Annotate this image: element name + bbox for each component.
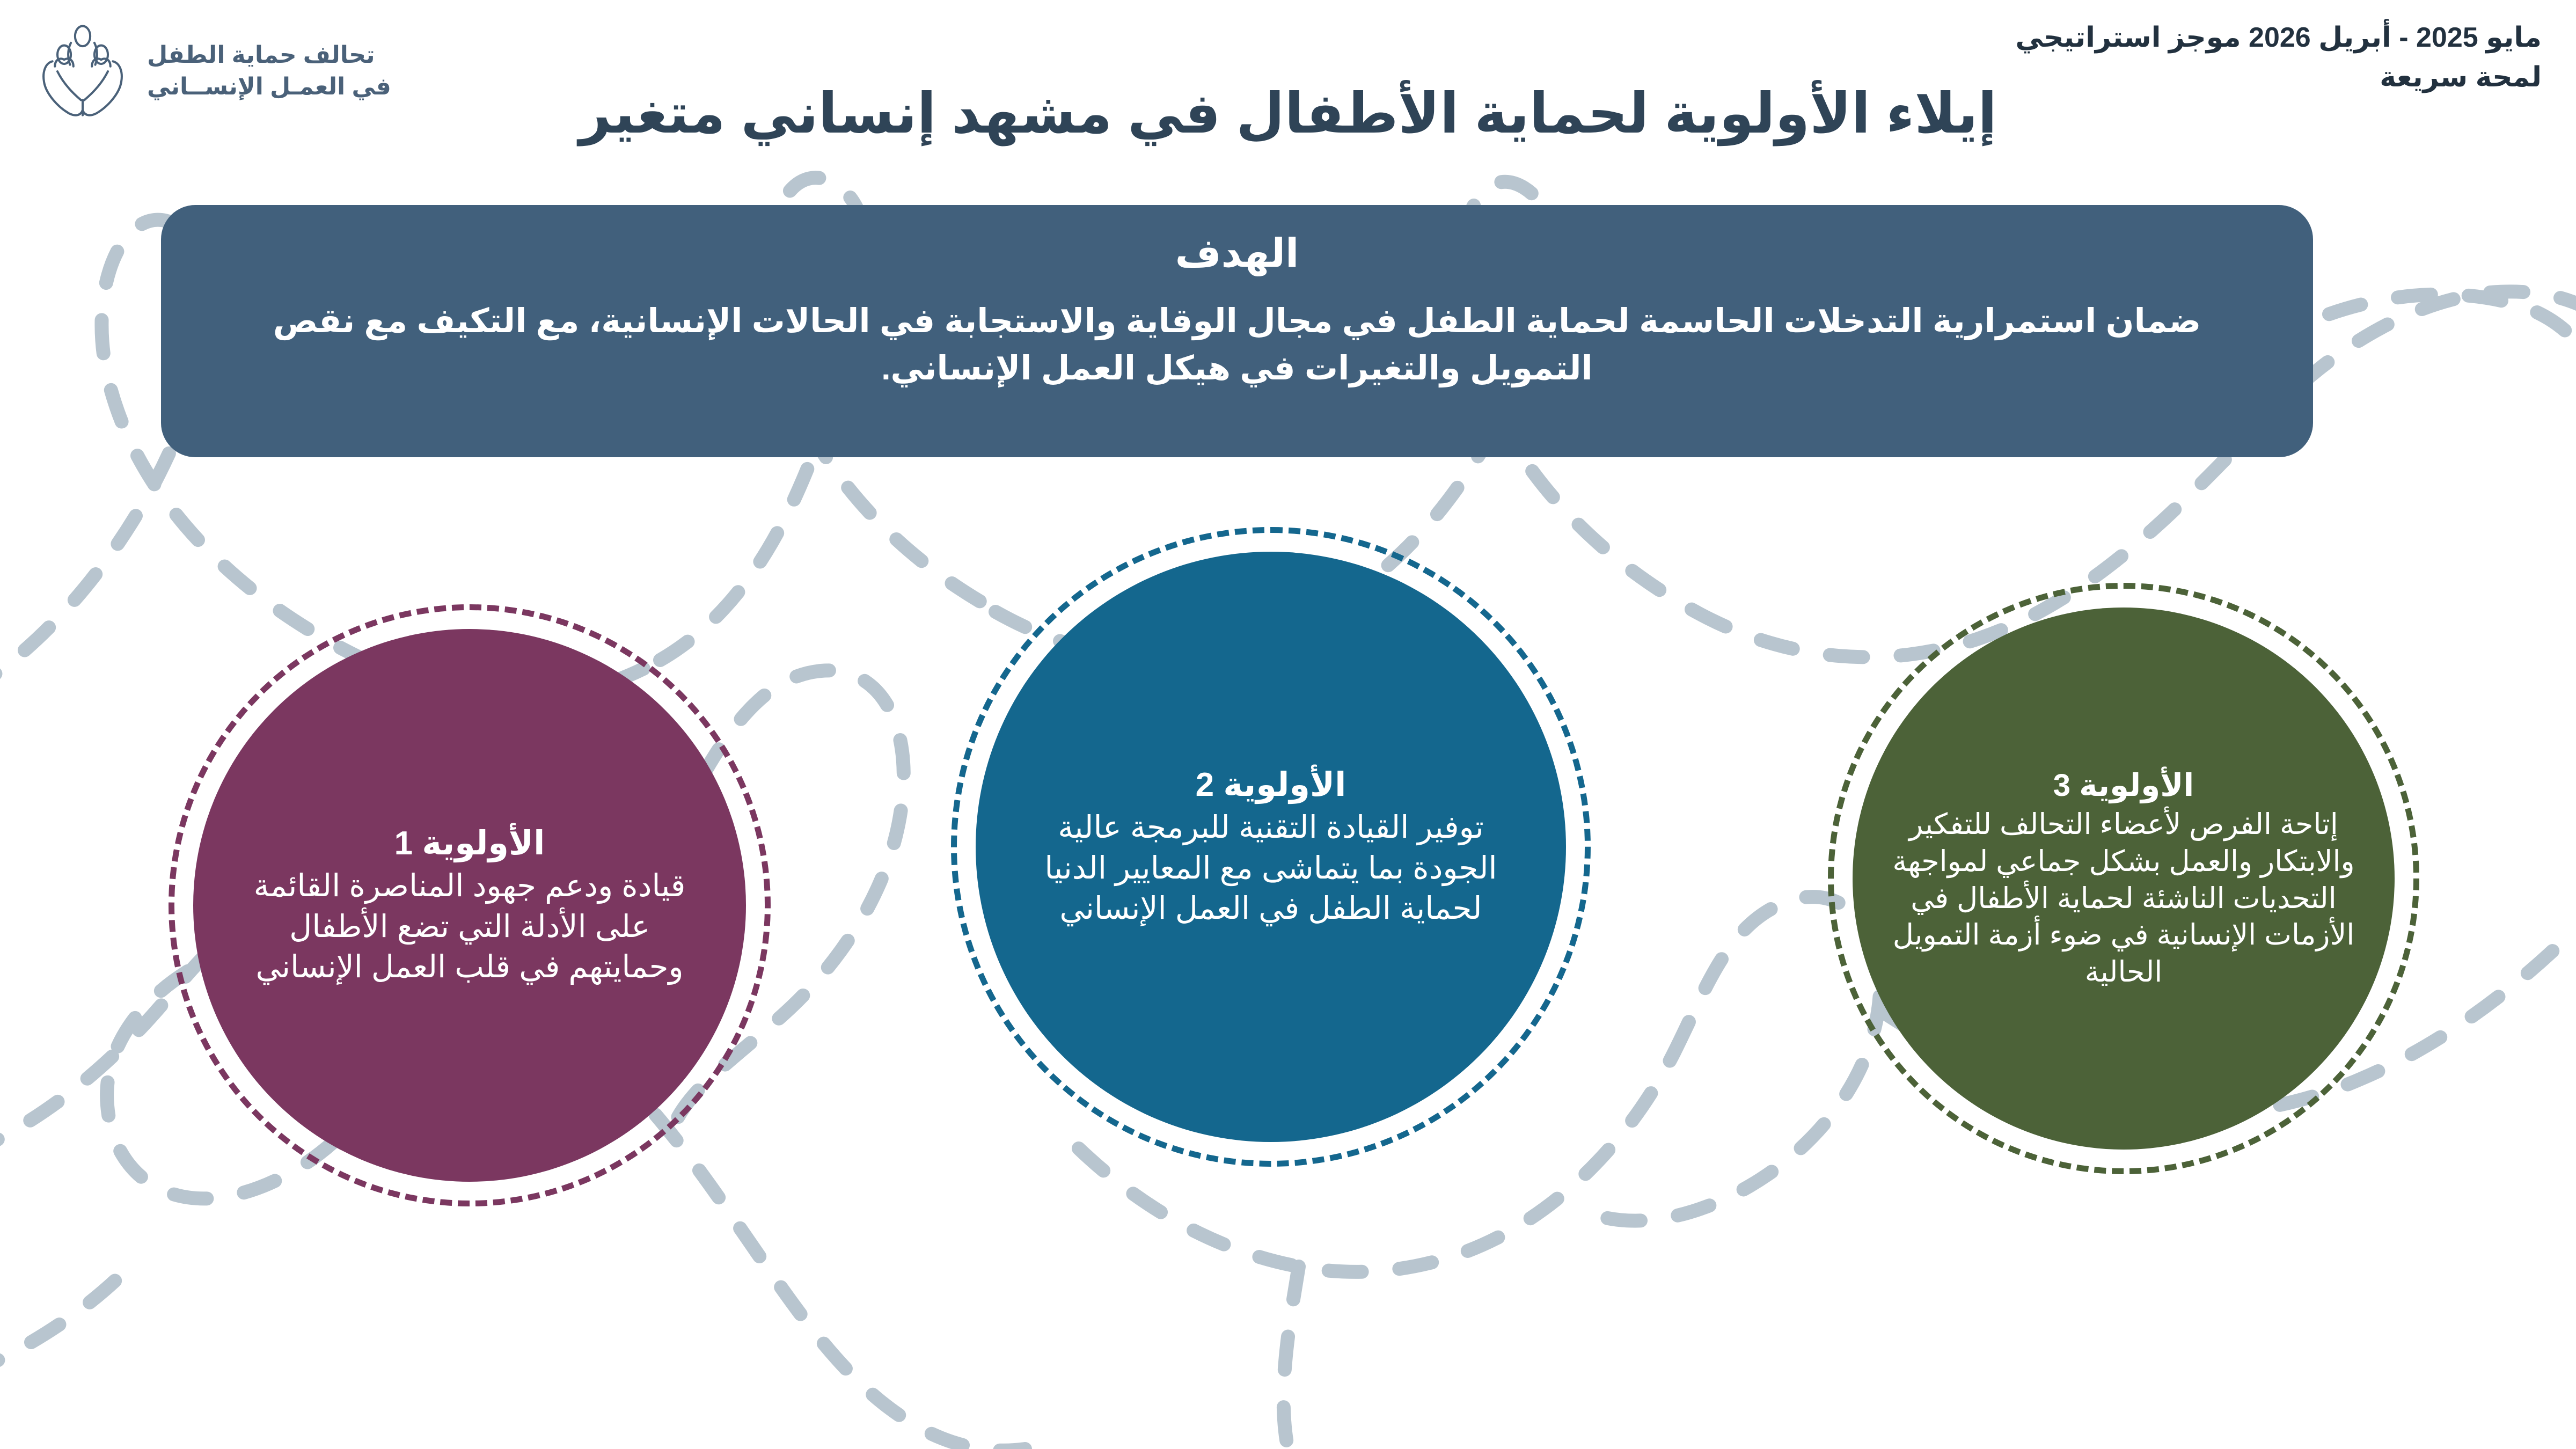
priority-circle-2: الأولوية 2 توفير القيادة التقنية للبرمجة… [976,552,1566,1142]
infographic-page: تحالف حماية الطفل في العمـل الإنســاني م… [0,0,2576,1449]
priority-1-text: قيادة ودعم جهود المناصرة القائمة على الأ… [236,866,703,987]
priority-circle-1: الأولوية 1 قيادة ودعم جهود المناصرة القا… [193,629,746,1182]
objective-body: ضمان استمرارية التدخلات الحاسمة لحماية ا… [252,298,2222,392]
logo-line-1: تحالف حماية الطفل [147,40,375,71]
brief-period-line-1: مايو 2025 - أبريل 2026 موجز استراتيجي [2015,18,2542,58]
priority-circle-3: الأولوية 3 إتاحة الفرص لأعضاء التحالف لل… [1853,608,2395,1150]
priority-3-label: الأولوية 3 [2053,767,2194,804]
page-header: تحالف حماية الطفل في العمـل الإنســاني م… [0,0,2576,204]
objective-title: الهدف [252,230,2222,277]
priority-1-disc: الأولوية 1 قيادة ودعم جهود المناصرة القا… [193,629,746,1182]
priority-1-label: الأولوية 1 [394,824,545,863]
priority-2-label: الأولوية 2 [1196,765,1346,805]
objective-banner: الهدف ضمان استمرارية التدخلات الحاسمة لح… [161,205,2313,457]
priority-2-disc: الأولوية 2 توفير القيادة التقنية للبرمجة… [976,552,1566,1142]
priority-3-disc: الأولوية 3 إتاحة الفرص لأعضاء التحالف لل… [1853,608,2395,1150]
priority-3-text: إتاحة الفرص لأعضاء التحالف للتفكير والاب… [1884,806,2363,990]
priority-2-text: توفير القيادة التقنية للبرمجة عالية الجو… [1019,807,1523,928]
page-title: إيلاء الأولوية لحماية الأطفال في مشهد إن… [0,80,2576,146]
